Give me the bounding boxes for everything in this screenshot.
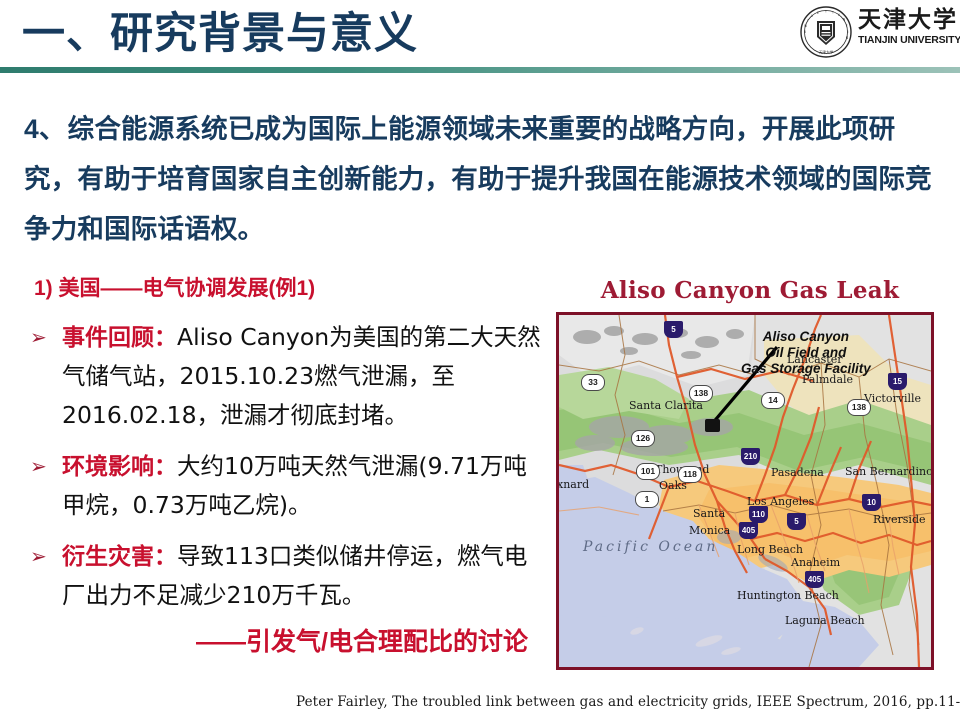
- bullet-separator: ：: [154, 453, 177, 479]
- logo-wordmark: 天津大学 TIANJIN UNIVERSITY: [858, 6, 952, 47]
- bullet-body: 衍生灾害：导致113口类似储井停运，燃气电厂出力不足减少210万千瓦。: [62, 537, 546, 615]
- map-callout-label: Aliso Canyon Oil Field and Gas Storage F…: [741, 329, 871, 377]
- svg-text:天津大学: 天津大学: [819, 50, 834, 55]
- ocean-label: Pacific Ocean: [583, 539, 718, 555]
- university-logo: T I A N J I N U N I V E 天津大学 天津大学 TIANJI…: [800, 4, 952, 62]
- callout-line-2: Oil Field and: [741, 345, 871, 361]
- svg-text:T: T: [824, 10, 827, 14]
- route-shield-icon: 138: [847, 399, 871, 416]
- page-title: 一、研究背景与意义: [22, 6, 418, 62]
- sub-heading: 1) 美国——电气协调发展(例1): [34, 272, 546, 306]
- lead-paragraph: 4、综合能源系统已成为国际上能源领域未来重要的战略方向，开展此项研究，有助于培育…: [24, 104, 934, 254]
- callout-line-3: Gas Storage Facility: [741, 361, 871, 377]
- interstate-shield-icon: 210: [741, 448, 760, 465]
- interstate-shield-icon: 5: [787, 513, 806, 530]
- logo-name-en: TIANJIN UNIVERSITY: [858, 34, 952, 47]
- list-item: ➢ 环境影响：大约10万吨天然气泄漏(9.71万吨甲烷，0.73万吨乙烷)。: [26, 447, 546, 525]
- lead-text: 综合能源系统已成为国际上能源领域未来重要的战略方向，开展此项研究，有助于培育国家…: [24, 114, 932, 244]
- slide-root: 一、研究背景与意义 T I A N J I N U N I V: [0, 0, 960, 720]
- interstate-shield-icon: 5: [664, 321, 683, 338]
- svg-text:N: N: [804, 24, 807, 28]
- tianjin-university-seal-icon: T I A N J I N U N I V E 天津大学: [800, 6, 852, 58]
- callout-line-1: Aliso Canyon: [741, 329, 871, 345]
- interstate-shield-icon: 110: [749, 506, 768, 523]
- route-shield-icon: 126: [631, 430, 655, 447]
- svg-text:N: N: [846, 36, 849, 40]
- map-title: Aliso Canyon Gas Leak: [556, 276, 944, 306]
- bullet-separator: ：: [154, 543, 177, 569]
- bullet-body: 环境影响：大约10万吨天然气泄漏(9.71万吨甲烷，0.73万吨乙烷)。: [62, 447, 546, 525]
- bullet-separator: ：: [154, 324, 177, 350]
- lead-number: 4、: [24, 114, 66, 144]
- svg-text:N: N: [843, 18, 846, 22]
- route-shield-icon: 33: [581, 374, 605, 391]
- header-divider: [0, 67, 960, 73]
- map-image: Aliso Canyon Oil Field and Gas Storage F…: [556, 312, 934, 670]
- arrow-bullet-icon: ➢: [26, 537, 62, 576]
- conclusion-line: ——引发气/电合理配比的讨论: [26, 625, 546, 659]
- interstate-shield-icon: 10: [862, 494, 881, 511]
- map-panel: Aliso Canyon Gas Leak: [556, 276, 944, 670]
- route-shield-icon: 1: [635, 491, 659, 508]
- interstate-shield-icon: 405: [805, 571, 824, 588]
- route-shield-icon: 138: [689, 385, 713, 402]
- interstate-shield-icon: 15: [888, 373, 907, 390]
- left-content-column: 1) 美国——电气协调发展(例1) ➢ 事件回顾：Aliso Canyon为美国…: [26, 272, 546, 659]
- arrow-bullet-icon: ➢: [26, 447, 62, 486]
- svg-text:E: E: [817, 11, 819, 15]
- svg-text:I: I: [848, 30, 849, 34]
- route-shield-icon: 118: [678, 466, 702, 483]
- bullet-label: 环境影响: [62, 453, 154, 479]
- svg-text:U: U: [804, 30, 806, 34]
- logo-name-cn: 天津大学: [858, 6, 952, 34]
- gas-leak-site-marker: [705, 419, 720, 432]
- route-shield-icon: 14: [761, 392, 785, 409]
- arrow-bullet-icon: ➢: [26, 318, 62, 357]
- citation-reference: Peter Fairley, The troubled link between…: [296, 694, 946, 711]
- list-item: ➢ 事件回顾：Aliso Canyon为美国的第二大天然气储气站，2015.10…: [26, 318, 546, 435]
- interstate-shield-icon: 405: [739, 522, 758, 539]
- bullet-body: 事件回顾：Aliso Canyon为美国的第二大天然气储气站，2015.10.2…: [62, 318, 546, 435]
- list-item: ➢ 衍生灾害：导致113口类似储井停运，燃气电厂出力不足减少210万千瓦。: [26, 537, 546, 615]
- svg-text:I: I: [833, 11, 834, 15]
- svg-text:J: J: [846, 24, 848, 28]
- bullet-label: 事件回顾: [62, 324, 154, 350]
- route-shield-icon: 101: [636, 463, 660, 480]
- svg-text:I: I: [808, 19, 809, 23]
- bullet-label: 衍生灾害: [62, 543, 154, 569]
